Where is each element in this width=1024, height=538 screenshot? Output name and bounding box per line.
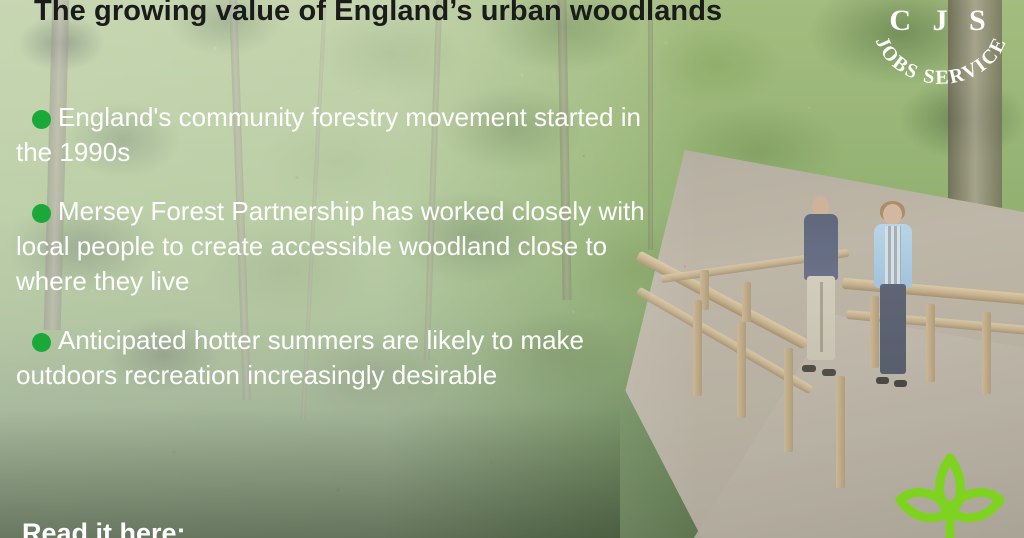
list-item-text: Anticipated hotter summers are likely to… bbox=[16, 323, 656, 393]
cjs-initials: C J S bbox=[889, 4, 992, 37]
cjs-logo: C J S JOBS SERVICE bbox=[866, 0, 1016, 94]
read-it-here-label[interactable]: Read it here: bbox=[22, 518, 186, 538]
leaf-logo bbox=[890, 444, 1010, 538]
bullet-list: England's community forestry movement st… bbox=[16, 100, 656, 417]
list-item: Mersey Forest Partnership has worked clo… bbox=[16, 194, 656, 299]
leaf-right bbox=[952, 492, 1000, 517]
bullet-dot-icon bbox=[32, 333, 51, 352]
list-item: England's community forestry movement st… bbox=[16, 100, 656, 170]
bullet-dot-icon bbox=[32, 110, 51, 129]
bullet-dot-icon bbox=[32, 204, 51, 223]
list-item: Anticipated hotter summers are likely to… bbox=[16, 323, 656, 393]
list-item-text: England's community forestry movement st… bbox=[16, 100, 656, 170]
presentation-slide: The growing value of England’s urban woo… bbox=[0, 0, 1024, 538]
list-item-text: Mersey Forest Partnership has worked clo… bbox=[16, 194, 656, 299]
leaf-left bbox=[900, 492, 948, 517]
page-title: The growing value of England’s urban woo… bbox=[34, 0, 854, 28]
cjs-arc-text: JOBS SERVICE bbox=[871, 33, 1012, 89]
